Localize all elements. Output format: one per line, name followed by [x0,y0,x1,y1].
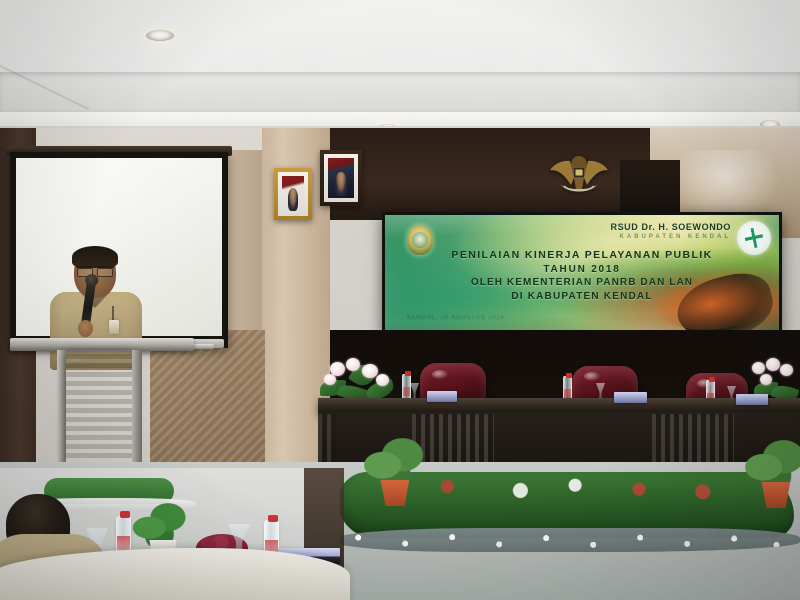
plant-pot [378,480,412,506]
podium-trim-left [57,350,66,470]
plant-foliage [364,434,426,486]
wall-light-glow [670,150,780,220]
garuda-pancasila-icon [548,148,610,200]
podium-body [66,350,132,470]
photo-scene: RSUD Dr. H. SOEWONDO KABUPATEN KENDAL PE… [0,0,800,600]
president-portrait [320,150,362,206]
banner-org-name: RSUD Dr. H. SOEWONDO [610,222,731,232]
eyeglasses-icon [76,266,114,273]
banner-title: PENILAIAN KINERJA PELAYANAN PUBLIK TAHUN… [385,249,779,303]
plant-foliage [132,498,194,546]
blossom [324,374,336,385]
potted-plant [360,448,430,506]
blossom [752,362,765,374]
event-banner: RSUD Dr. H. SOEWONDO KABUPATEN KENDAL PE… [382,212,782,334]
banner-title-line-2: TAHUN 2018 [385,263,779,277]
banner-title-line-3: OLEH KEMENTERIAN PANRB DAN LAN [385,276,779,290]
name-placard[interactable] [614,392,647,403]
speaker-hair [72,246,118,268]
blossom [780,364,793,376]
banner-org-sub: KABUPATEN KENDAL [620,234,731,240]
id-badge [109,320,119,334]
blossom [362,364,378,378]
foreground-table [0,548,350,600]
portrait-photo [282,176,304,212]
portrait-photo [328,158,354,198]
blossom [346,358,360,371]
blossom [376,374,389,386]
banner-title-line-1: PENILAIAN KINERJA PELAYANAN PUBLIK [385,249,779,263]
blossom [766,358,780,371]
banner-fineprint: KENDAL, 28 AGUSTUS 2018 [407,315,505,321]
podium[interactable] [56,338,148,470]
downlight-icon [146,30,174,41]
name-placard[interactable] [427,391,457,402]
blossom [760,374,772,385]
name-placard[interactable] [736,394,768,405]
podium-trim-right [132,350,142,470]
vice-president-portrait [274,168,312,220]
decorative-pebbles [330,528,800,552]
speaker-hand [78,320,93,337]
patterned-curtain [150,330,265,470]
banner-title-line-4: DI KABUPATEN KENDAL [385,290,779,304]
